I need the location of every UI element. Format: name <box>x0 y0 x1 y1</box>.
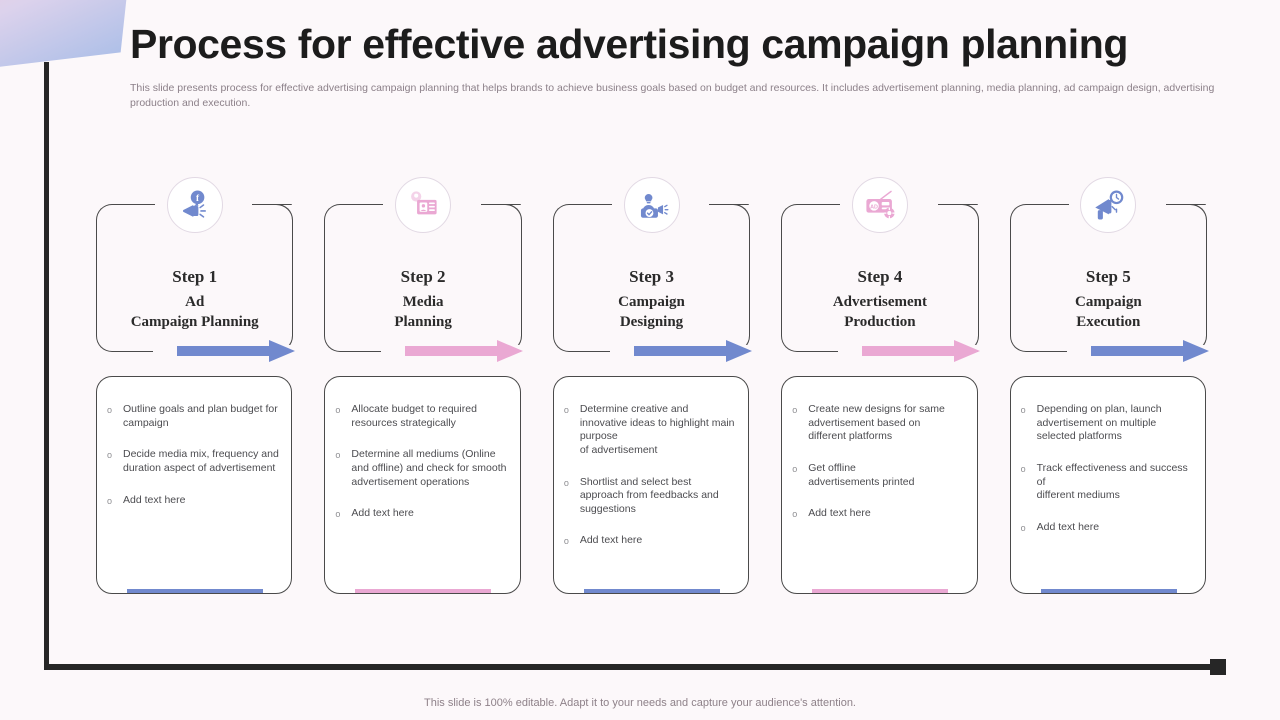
process-step: AD Step 4 Advertisement Production o Cre… <box>781 176 977 596</box>
step-bullet-list: o Allocate budget to required resources … <box>335 403 507 521</box>
step-header-card: Step 5 Campaign Execution <box>1010 204 1206 352</box>
step-header-card: Step 3 Campaign Designing <box>553 204 749 352</box>
step-arrow-icon <box>862 340 980 362</box>
bullet-marker: o <box>1021 464 1029 503</box>
svg-text:AD: AD <box>870 204 878 210</box>
step-detail-card: o Allocate budget to required resources … <box>324 376 520 594</box>
process-step: Step 2 Media Planning o Allocate budget … <box>324 176 520 596</box>
list-item: o Add text here <box>564 534 736 548</box>
list-item: o Allocate budget to required resources … <box>335 403 507 430</box>
footer-note: This slide is 100% editable. Adapt it to… <box>0 697 1280 709</box>
list-item: o Determine all mediums (Online and offl… <box>335 448 507 489</box>
bullet-marker: o <box>792 405 800 444</box>
step-number: Step 2 <box>325 267 520 287</box>
bullet-text: Add text here <box>123 494 279 508</box>
step-detail-card: o Outline goals and plan budget for camp… <box>96 376 292 594</box>
bullet-text: Decide media mix, frequency and duration… <box>123 448 279 475</box>
radio-ad-icon: AD <box>852 177 908 233</box>
media-plan-board-icon <box>395 177 451 233</box>
bullet-marker: o <box>107 450 115 475</box>
list-item: o Add text here <box>1021 521 1193 535</box>
process-step: Step 5 Campaign Execution o Depending on… <box>1010 176 1206 596</box>
bullet-text: Add text here <box>351 507 507 521</box>
creative-camera-idea-icon <box>624 177 680 233</box>
launch-megaphone-icon <box>1080 177 1136 233</box>
step-title: Advertisement Production <box>782 293 977 332</box>
step-arrow-icon <box>405 340 523 362</box>
process-step: Step 3 Campaign Designing o Determine cr… <box>553 176 749 596</box>
step-title: Media Planning <box>325 293 520 332</box>
bullet-marker: o <box>564 478 572 517</box>
list-item: o Track effectiveness and success of dif… <box>1021 462 1193 503</box>
step-header-card: f Step 1 Ad Campaign Planning <box>96 204 292 352</box>
list-item: o Add text here <box>107 494 279 508</box>
list-item: o Decide media mix, frequency and durati… <box>107 448 279 475</box>
bullet-text: Outline goals and plan budget for campai… <box>123 403 279 430</box>
process-step: f Step 1 Ad Campaign Planning o Outline … <box>96 176 292 596</box>
step-accent-bar <box>812 589 948 594</box>
step-bullet-list: o Depending on plan, launch advertisemen… <box>1021 403 1193 535</box>
bullet-marker: o <box>1021 523 1029 535</box>
list-item: o Depending on plan, launch advertisemen… <box>1021 403 1193 444</box>
step-detail-card: o Determine creative and innovative idea… <box>553 376 749 594</box>
step-title: Campaign Designing <box>554 293 749 332</box>
step-number: Step 3 <box>554 267 749 287</box>
step-title: Ad Campaign Planning <box>97 293 292 332</box>
step-header-card: AD Step 4 Advertisement Production <box>781 204 977 352</box>
step-bullet-list: o Determine creative and innovative idea… <box>564 403 736 548</box>
list-item: o Determine creative and innovative idea… <box>564 403 736 458</box>
step-accent-bar <box>584 589 720 594</box>
list-item: o Shortlist and select best approach fro… <box>564 476 736 517</box>
step-number: Step 4 <box>782 267 977 287</box>
step-number: Step 5 <box>1011 267 1206 287</box>
page-subtitle: This slide presents process for effectiv… <box>130 81 1220 111</box>
step-accent-bar <box>355 589 491 594</box>
decorative-vertical-line <box>44 62 49 670</box>
decorative-horizontal-line <box>44 664 1211 670</box>
bullet-text: Allocate budget to required resources st… <box>351 403 507 430</box>
step-number: Step 1 <box>97 267 292 287</box>
step-arrow-icon <box>177 340 295 362</box>
list-item: o Outline goals and plan budget for camp… <box>107 403 279 430</box>
bullet-text: Depending on plan, launch advertisement … <box>1037 403 1193 444</box>
bullet-marker: o <box>107 496 115 508</box>
bullet-marker: o <box>1021 405 1029 444</box>
bullet-text: Create new designs for same advertisemen… <box>808 403 964 444</box>
step-detail-card: o Depending on plan, launch advertisemen… <box>1010 376 1206 594</box>
step-bullet-list: o Create new designs for same advertisem… <box>792 403 964 521</box>
step-detail-card: o Create new designs for same advertisem… <box>781 376 977 594</box>
bullet-marker: o <box>335 450 343 489</box>
process-steps-row: f Step 1 Ad Campaign Planning o Outline … <box>96 176 1206 596</box>
step-bullet-list: o Outline goals and plan budget for camp… <box>107 403 279 507</box>
list-item: o Get offline advertisements printed <box>792 462 964 489</box>
step-accent-bar <box>1041 589 1177 594</box>
step-arrow-icon <box>634 340 752 362</box>
list-item: o Add text here <box>335 507 507 521</box>
bullet-marker: o <box>564 536 572 548</box>
decorative-end-square <box>1210 659 1226 675</box>
bullet-text: Add text here <box>580 534 736 548</box>
step-arrow-icon <box>1091 340 1209 362</box>
bullet-marker: o <box>107 405 115 430</box>
list-item: o Create new designs for same advertisem… <box>792 403 964 444</box>
bullet-text: Add text here <box>1037 521 1193 535</box>
bullet-marker: o <box>564 405 572 458</box>
page-title: Process for effective advertising campai… <box>130 22 1230 66</box>
bullet-text: Determine all mediums (Online and offlin… <box>351 448 507 489</box>
bullet-text: Determine creative and innovative ideas … <box>580 403 736 458</box>
bullet-text: Shortlist and select best approach from … <box>580 476 736 517</box>
social-megaphone-icon: f <box>167 177 223 233</box>
bullet-marker: o <box>335 405 343 430</box>
step-header-card: Step 2 Media Planning <box>324 204 520 352</box>
list-item: o Add text here <box>792 507 964 521</box>
bullet-marker: o <box>792 509 800 521</box>
step-accent-bar <box>127 589 263 594</box>
decorative-gradient-shape <box>0 0 134 73</box>
step-title: Campaign Execution <box>1011 293 1206 332</box>
bullet-text: Get offline advertisements printed <box>808 462 964 489</box>
bullet-text: Track effectiveness and success of diffe… <box>1037 462 1193 503</box>
bullet-text: Add text here <box>808 507 964 521</box>
bullet-marker: o <box>335 509 343 521</box>
bullet-marker: o <box>792 464 800 489</box>
